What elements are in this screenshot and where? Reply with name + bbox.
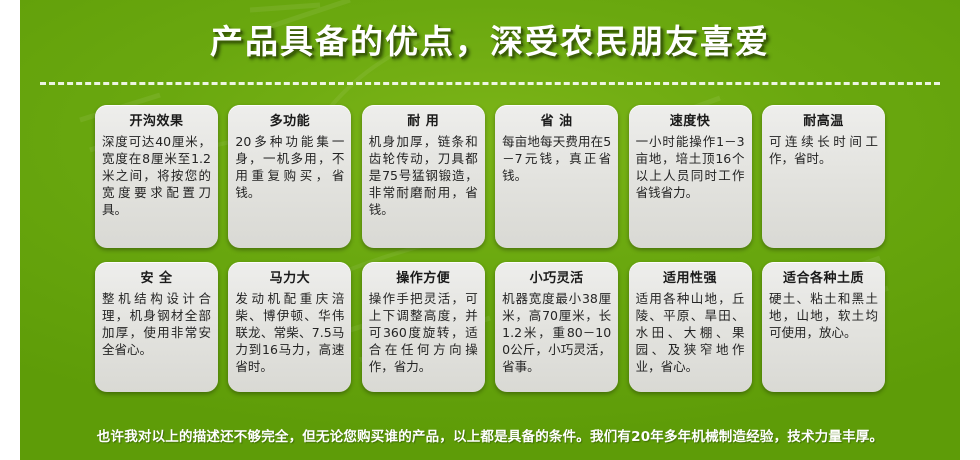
feature-card-title: 省 油 xyxy=(502,113,611,131)
feature-card[interactable]: 开沟效果 深度可达40厘米，宽度在8厘米至1.2米之间，将按您的宽度要求配置刀具… xyxy=(95,105,218,248)
feature-card[interactable]: 适用性强 适用各种山地，丘陵、平原、旱田、水田、大棚、果园、及狭窄地作业，省心。 xyxy=(629,262,752,392)
feature-card-body: 每亩地每天费用在5－7元钱，真正省钱。 xyxy=(502,133,611,184)
feature-card-title: 适合各种土质 xyxy=(769,270,878,288)
feature-card-title: 适用性强 xyxy=(636,270,745,288)
feature-card-title: 马力大 xyxy=(235,270,344,288)
feature-card-body: 操作手把灵活，可上下调整高度，并可360度旋转，适合在任何方向操作，省力。 xyxy=(369,290,478,375)
infographic-page: 产品具备的优点，深受农民朋友喜爱 开沟效果 深度可达40厘米，宽度在8厘米至1.… xyxy=(0,0,980,460)
page-title-text: 产品具备的优点，深受农民朋友喜爱 xyxy=(210,20,770,64)
feature-card[interactable]: 适合各种土质 硬土、粘土和黑土地，山地，软土均可使用，放心。 xyxy=(762,262,885,392)
feature-card-body: 机器宽度最小38厘米，高70厘米，长1.2米，重80－100公斤，小巧灵活，省事… xyxy=(502,290,611,375)
feature-card-body: 机身加厚，链条和齿轮传动，刀具都是75号猛钢锻造，非常耐磨耐用，省钱。 xyxy=(369,133,478,218)
feature-card[interactable]: 小巧灵活 机器宽度最小38厘米，高70厘米，长1.2米，重80－100公斤，小巧… xyxy=(495,262,618,392)
feature-card[interactable]: 马力大 发动机配重庆涪柴、博伊顿、华伟联龙、常柴、7.5马力到16马力，高速省时… xyxy=(228,262,351,392)
feature-card[interactable]: 操作方便 操作手把灵活，可上下调整高度，并可360度旋转，适合在任何方向操作，省… xyxy=(362,262,485,392)
feature-card-body: 一小时能操作1－3亩地，培土顶16个以上人员同时工作省钱省力。 xyxy=(636,133,745,201)
feature-card-body: 适用各种山地，丘陵、平原、旱田、水田、大棚、果园、及狭窄地作业，省心。 xyxy=(636,290,745,375)
feature-card-title: 耐 用 xyxy=(369,113,478,131)
page-title: 产品具备的优点，深受农民朋友喜爱 xyxy=(20,20,960,64)
feature-card-title: 安 全 xyxy=(102,270,211,288)
dashed-divider xyxy=(40,82,940,85)
feature-card-row-2: 安 全 整机结构设计合理，机身钢材全部加厚，使用非常安全省心。 马力大 发动机配… xyxy=(95,262,885,392)
feature-card-title: 耐高温 xyxy=(769,113,878,131)
feature-card-body: 20多种功能集一身，一机多用，不用重复购买，省钱。 xyxy=(235,133,344,201)
feature-card[interactable]: 多功能 20多种功能集一身，一机多用，不用重复购买，省钱。 xyxy=(228,105,351,248)
feature-card[interactable]: 耐高温 可连续长时间工作，省时。 xyxy=(762,105,885,248)
feature-card-title: 速度快 xyxy=(636,113,745,131)
feature-card[interactable]: 省 油 每亩地每天费用在5－7元钱，真正省钱。 xyxy=(495,105,618,248)
feature-card[interactable]: 耐 用 机身加厚，链条和齿轮传动，刀具都是75号猛钢锻造，非常耐磨耐用，省钱。 xyxy=(362,105,485,248)
feature-card[interactable]: 速度快 一小时能操作1－3亩地，培土顶16个以上人员同时工作省钱省力。 xyxy=(629,105,752,248)
feature-card-title: 开沟效果 xyxy=(102,113,211,131)
footer-text: 也许我对以上的描述还不够完全，但无论您购买谁的产品，以上都是具备的条件。我们有2… xyxy=(97,425,883,445)
feature-card-body: 硬土、粘土和黑土地，山地，软土均可使用，放心。 xyxy=(769,290,878,341)
feature-card-body: 整机结构设计合理，机身钢材全部加厚，使用非常安全省心。 xyxy=(102,290,211,358)
feature-card-body: 深度可达40厘米，宽度在8厘米至1.2米之间，将按您的宽度要求配置刀具。 xyxy=(102,133,211,218)
feature-card-row-1: 开沟效果 深度可达40厘米，宽度在8厘米至1.2米之间，将按您的宽度要求配置刀具… xyxy=(95,105,885,248)
footer-banner: 也许我对以上的描述还不够完全，但无论您购买谁的产品，以上都是具备的条件。我们有2… xyxy=(20,410,960,460)
feature-card-title: 小巧灵活 xyxy=(502,270,611,288)
feature-card-body: 可连续长时间工作，省时。 xyxy=(769,133,878,167)
feature-card-body: 发动机配重庆涪柴、博伊顿、华伟联龙、常柴、7.5马力到16马力，高速省时。 xyxy=(235,290,344,375)
feature-card-title: 操作方便 xyxy=(369,270,478,288)
feature-card-title: 多功能 xyxy=(235,113,344,131)
feature-card[interactable]: 安 全 整机结构设计合理，机身钢材全部加厚，使用非常安全省心。 xyxy=(95,262,218,392)
